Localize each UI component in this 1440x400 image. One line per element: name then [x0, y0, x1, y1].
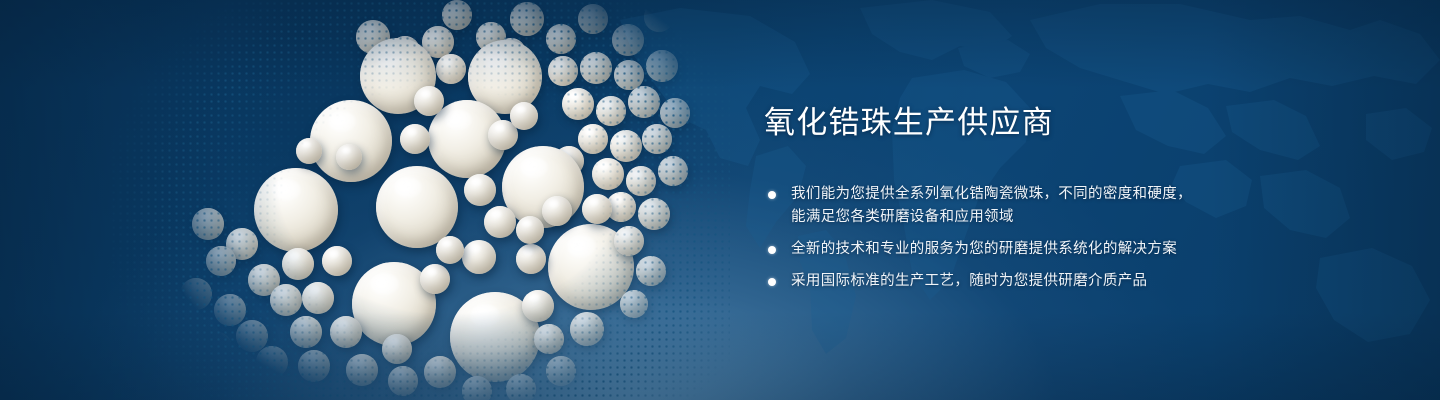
list-item: 采用国际标准的生产工艺，随时为您提供研磨介质产品: [764, 270, 1364, 293]
list-item-line: 全新的技术和专业的服务为您的研磨提供系统化的解决方案: [791, 238, 1364, 261]
bead-cluster: [150, 0, 710, 400]
list-item-line: 采用国际标准的生产工艺，随时为您提供研磨介质产品: [791, 270, 1364, 293]
list-item-line: 能满足您各类研磨设备和应用领域: [791, 206, 1364, 229]
list-item-line: 我们能为您提供全系列氧化锆陶瓷微珠，不同的密度和硬度，: [791, 183, 1364, 206]
banner-copy: 氧化锆珠生产供应商 我们能为您提供全系列氧化锆陶瓷微珠，不同的密度和硬度， 能满…: [764, 104, 1364, 293]
bullet-dot-icon: [768, 191, 776, 199]
bullet-dot-icon: [768, 278, 776, 286]
list-item: 全新的技术和专业的服务为您的研磨提供系统化的解决方案: [764, 238, 1364, 261]
list-item: 我们能为您提供全系列氧化锆陶瓷微珠，不同的密度和硬度， 能满足您各类研磨设备和应…: [764, 183, 1364, 229]
product-photo: [150, 0, 710, 400]
page-title: 氧化锆珠生产供应商: [764, 104, 1364, 141]
hero-banner: 氧化锆珠生产供应商 我们能为您提供全系列氧化锆陶瓷微珠，不同的密度和硬度， 能满…: [0, 0, 1440, 400]
feature-list: 我们能为您提供全系列氧化锆陶瓷微珠，不同的密度和硬度， 能满足您各类研磨设备和应…: [764, 183, 1364, 293]
bullet-dot-icon: [768, 246, 776, 254]
